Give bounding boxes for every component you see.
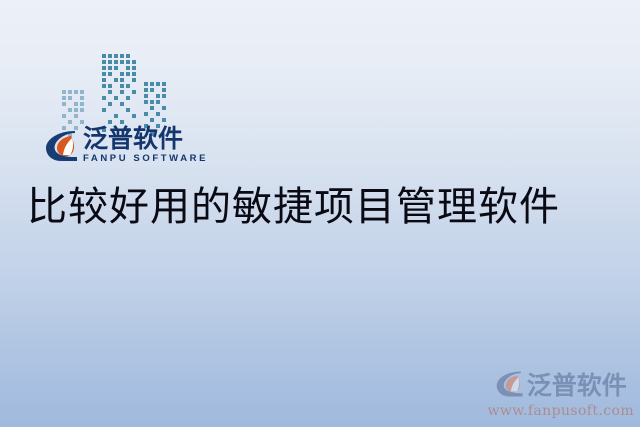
brand-name-cn: 泛普软件	[83, 126, 208, 151]
brand-logo: 泛普软件 FANPU SOFTWARE	[44, 126, 208, 164]
brand-name-en: FANPU SOFTWARE	[83, 154, 208, 164]
watermark-url: www.fanpusoft.com	[488, 403, 634, 419]
watermark: 泛普软件 www.fanpusoft.com	[488, 366, 634, 419]
fanpu-logo-mark-watermark-icon	[495, 369, 525, 399]
watermark-logo-row: 泛普软件	[495, 366, 627, 402]
brand-logo-wordmark: 泛普软件 FANPU SOFTWARE	[83, 126, 208, 164]
watermark-brand-name: 泛普软件	[527, 366, 627, 402]
banner-canvas: 泛普软件 FANPU SOFTWARE 比较好用的敏捷项目管理软件 泛普软件 w…	[0, 0, 640, 427]
fanpu-logo-mark-icon	[44, 128, 80, 164]
page-title: 比较好用的敏捷项目管理软件	[27, 184, 617, 230]
